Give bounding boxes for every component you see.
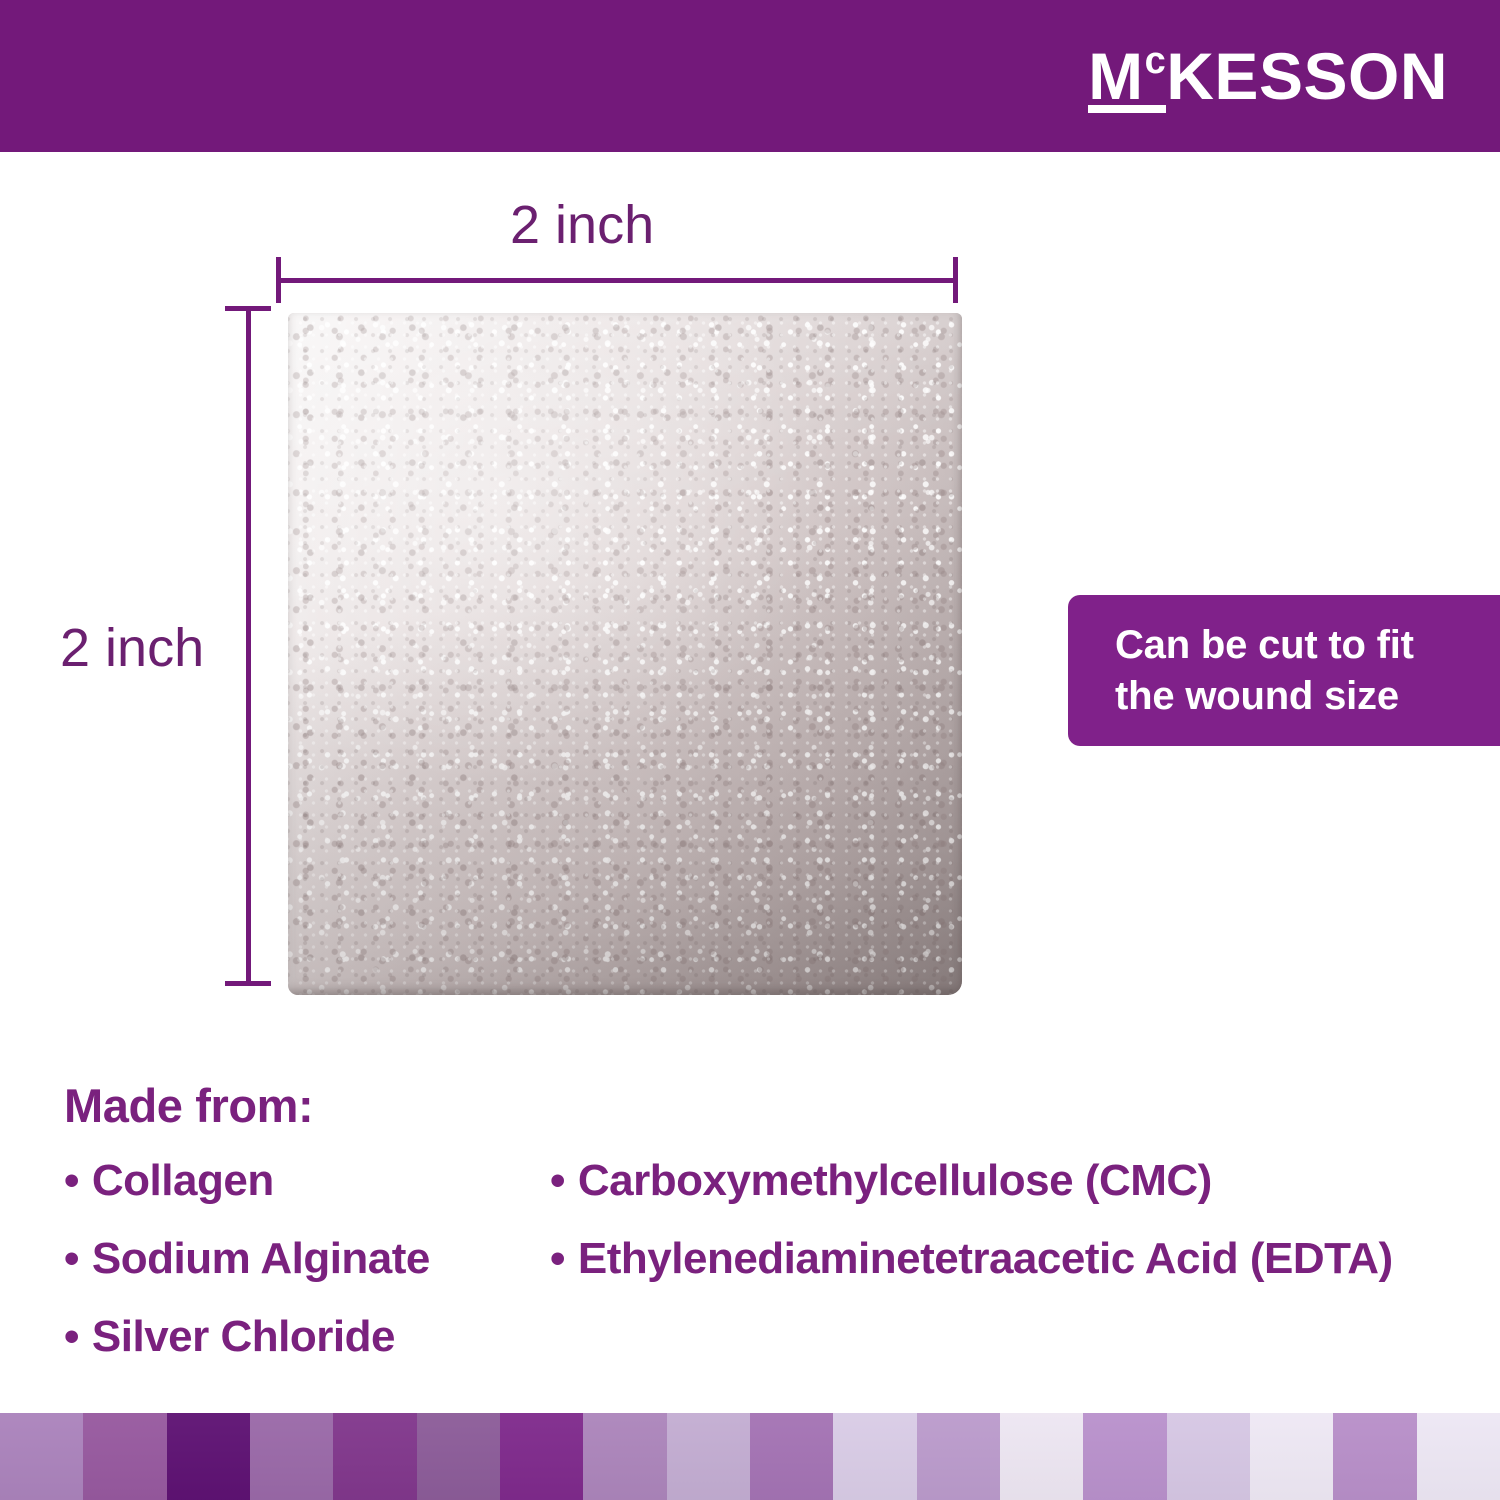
color-swatch-7 <box>583 1413 666 1500</box>
bullet-icon: • <box>550 1234 565 1283</box>
made-from-section: Made from: • Collagen • Sodium Alginate … <box>64 1078 1474 1386</box>
logo-wordmark-rest: KESSON <box>1166 36 1448 116</box>
color-swatch-14 <box>1167 1413 1250 1500</box>
width-dimension-label: 2 inch <box>510 194 654 256</box>
logo-superscript-c: c <box>1145 38 1167 84</box>
height-dimension-cap-bottom <box>225 981 271 986</box>
width-dimension-cap-left <box>276 257 281 303</box>
brand-color-strip <box>0 1413 1500 1500</box>
width-dimension-cap-right <box>953 257 958 303</box>
color-swatch-0 <box>0 1413 83 1500</box>
color-swatch-4 <box>333 1413 416 1500</box>
ingredient-label: Ethylenediaminetetraacetic Acid (EDTA) <box>578 1234 1393 1283</box>
callout-line-2: the wound size <box>1115 674 1399 718</box>
ingredient-label: Sodium Alginate <box>92 1234 430 1283</box>
brand-header-bar: M c KESSON <box>0 0 1500 152</box>
ingredient-label: Silver Chloride <box>92 1312 395 1361</box>
height-dimension-cap-top <box>225 306 271 311</box>
bullet-icon: • <box>64 1234 79 1283</box>
cut-to-fit-callout: Can be cut to fit the wound size <box>1068 595 1500 746</box>
ingredient-column-left: • Collagen • Sodium Alginate • Silver Ch… <box>64 1156 534 1390</box>
color-swatch-6 <box>500 1413 583 1500</box>
callout-line-1: Can be cut to fit <box>1115 623 1414 667</box>
mckesson-logo: M c KESSON <box>1088 36 1448 116</box>
color-swatch-11 <box>917 1413 1000 1500</box>
list-item: • Silver Chloride <box>64 1312 534 1390</box>
color-swatch-15 <box>1250 1413 1333 1500</box>
logo-letter-m: M <box>1088 36 1143 116</box>
list-item: • Ethylenediaminetetraacetic Acid (EDTA) <box>550 1234 1480 1312</box>
bullet-icon: • <box>64 1156 79 1205</box>
foam-edge-shadow <box>288 313 962 995</box>
logo-mc-group: M c <box>1088 36 1166 113</box>
list-item: • Carboxymethylcellulose (CMC) <box>550 1156 1480 1234</box>
color-swatch-1 <box>83 1413 166 1500</box>
height-dimension-line <box>246 306 251 986</box>
color-swatch-16 <box>1333 1413 1416 1500</box>
color-swatch-8 <box>667 1413 750 1500</box>
bullet-icon: • <box>64 1312 79 1361</box>
color-swatch-13 <box>1083 1413 1166 1500</box>
made-from-title: Made from: <box>64 1078 1474 1134</box>
color-swatch-17 <box>1417 1413 1500 1500</box>
color-swatch-3 <box>250 1413 333 1500</box>
logo-mc-row: M c <box>1088 36 1166 116</box>
color-swatch-12 <box>1000 1413 1083 1500</box>
color-swatch-9 <box>750 1413 833 1500</box>
foam-dressing-image <box>288 313 962 995</box>
color-swatch-2 <box>167 1413 250 1500</box>
ingredient-columns: • Collagen • Sodium Alginate • Silver Ch… <box>64 1156 1474 1386</box>
ingredient-label: Collagen <box>92 1156 274 1205</box>
ingredient-column-right: • Carboxymethylcellulose (CMC) • Ethylen… <box>550 1156 1480 1312</box>
color-swatch-10 <box>833 1413 916 1500</box>
logo-mc-underline <box>1088 105 1166 113</box>
callout-text: Can be cut to fit the wound size <box>1068 620 1426 722</box>
bullet-icon: • <box>550 1156 565 1205</box>
height-dimension-label: 2 inch <box>60 617 204 679</box>
product-graphic-page: M c KESSON 2 inch 2 inch Can be cut to f… <box>0 0 1500 1500</box>
width-dimension-line <box>276 278 958 283</box>
list-item: • Collagen <box>64 1156 534 1234</box>
list-item: • Sodium Alginate <box>64 1234 534 1312</box>
ingredient-label: Carboxymethylcellulose (CMC) <box>578 1156 1212 1205</box>
color-swatch-5 <box>417 1413 500 1500</box>
